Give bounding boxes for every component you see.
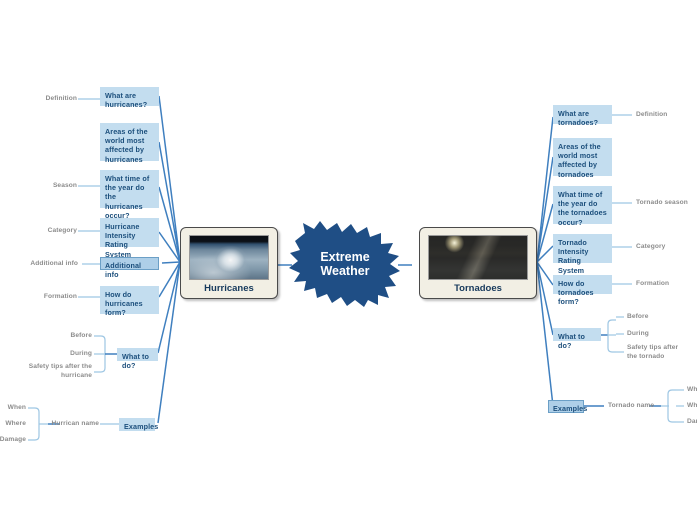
topic-tornado-rating-system[interactable]: Tornado Intensity Rating System bbox=[553, 234, 612, 263]
tornadoes-card-label: Tornadoes bbox=[428, 280, 528, 294]
topic-what-are-tornadoes[interactable]: What are tornadoes? bbox=[553, 105, 612, 124]
label-additional-info-hurricanes: Additional info bbox=[10, 260, 78, 269]
label-tornado-name: Tornado name bbox=[608, 402, 654, 411]
label-formation-tornadoes: Formation bbox=[636, 280, 669, 289]
topic-examples-hurricanes[interactable]: Examples bbox=[119, 418, 155, 431]
topic-what-to-do-hurricanes[interactable]: What to do? bbox=[117, 348, 158, 361]
hurricane-satellite-photo bbox=[189, 235, 269, 280]
label-hurricane-name: Hurrican name bbox=[42, 420, 99, 429]
label-damage-tornado: Damage bbox=[687, 418, 697, 427]
label-category-tornadoes: Category bbox=[636, 243, 665, 252]
topic-areas-affected-tornadoes[interactable]: Areas of the world most affected by torn… bbox=[553, 138, 612, 176]
label-category-hurricanes: Category bbox=[18, 227, 77, 236]
label-before-tornado: Before bbox=[627, 313, 649, 322]
hurricanes-card-label: Hurricanes bbox=[189, 280, 269, 294]
label-when-hurricane: When bbox=[0, 404, 26, 413]
label-where-hurricane: Where bbox=[0, 420, 26, 429]
central-title-line-2: Weather bbox=[320, 264, 369, 278]
topic-areas-affected-hurricanes[interactable]: Areas of the world most affected by hurr… bbox=[100, 123, 159, 161]
central-node-extreme-weather[interactable]: Extreme Weather bbox=[289, 221, 401, 307]
topic-what-to-do-tornadoes[interactable]: What to do? bbox=[553, 328, 601, 341]
topic-hurricane-season[interactable]: What time of the year do the hurricanes … bbox=[100, 170, 159, 208]
label-safety-tips-after-hurricane: Safety tips after the hurricane bbox=[20, 363, 92, 380]
central-node-title: Extreme Weather bbox=[289, 221, 401, 307]
label-formation-hurricanes: Formation bbox=[18, 293, 77, 302]
label-season-hurricanes: Season bbox=[18, 182, 77, 191]
topic-additional-info-hurricanes[interactable]: Additional info bbox=[100, 257, 159, 270]
topic-how-hurricanes-form[interactable]: How do hurricanes form? bbox=[100, 286, 159, 314]
label-during-tornado: During bbox=[627, 330, 649, 339]
label-definition-tornadoes: Definition bbox=[636, 111, 667, 120]
topic-examples-tornadoes[interactable]: Examples bbox=[548, 400, 584, 413]
topic-how-tornadoes-form[interactable]: How do tornadoes form? bbox=[553, 275, 612, 294]
label-damage-hurricane: Damage bbox=[0, 436, 26, 445]
label-when-tornado: When bbox=[687, 386, 697, 395]
mindmap-canvas: Extreme Weather Hurricanes Tornadoes Wha… bbox=[0, 0, 697, 520]
topic-hurricane-rating-system[interactable]: Hurricane Intensity Rating System bbox=[100, 218, 159, 247]
tornado-storm-photo bbox=[428, 235, 528, 280]
label-where-tornado: Where bbox=[687, 402, 697, 411]
label-before-hurricane: Before bbox=[40, 332, 92, 341]
label-during-hurricane: During bbox=[40, 350, 92, 359]
topic-tornado-season[interactable]: What time of the year do the tornadoes o… bbox=[553, 186, 612, 224]
label-safety-tips-after-tornado: Safety tips after the tornado bbox=[627, 344, 689, 361]
branch-node-hurricanes[interactable]: Hurricanes bbox=[180, 227, 278, 299]
topic-what-are-hurricanes[interactable]: What are hurricanes? bbox=[100, 87, 159, 106]
branch-node-tornadoes[interactable]: Tornadoes bbox=[419, 227, 537, 299]
label-tornado-season: Tornado season bbox=[636, 199, 688, 208]
central-title-line-1: Extreme bbox=[320, 250, 369, 264]
label-definition-hurricanes: Definition bbox=[18, 95, 77, 104]
